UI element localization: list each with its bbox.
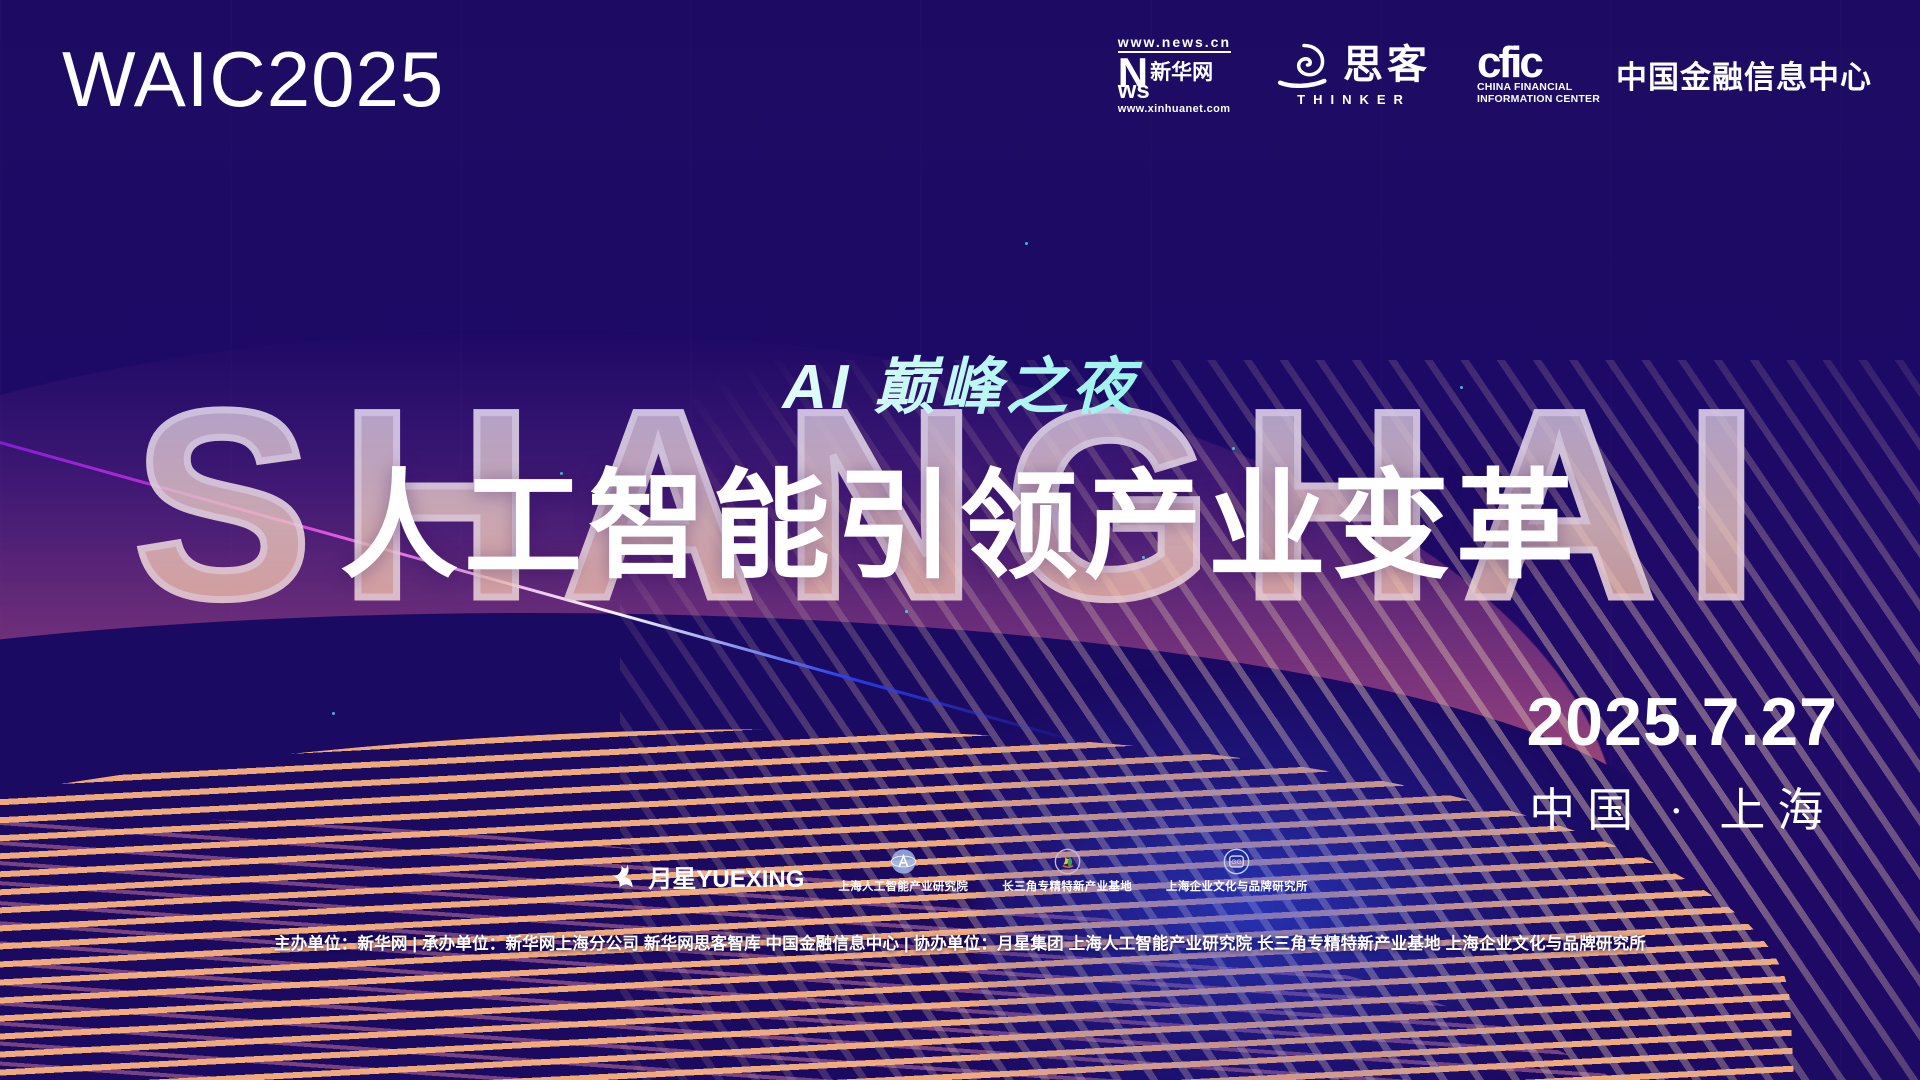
logo-yangtze-delta-base: 长三角专精特新产业基地 (1002, 848, 1132, 894)
credits-line: 主办单位：新华网 | 承办单位：新华网上海分公司 新华网思客智库 中国金融信息中… (0, 930, 1920, 954)
logo-caption: 长三角专精特新产业基地 (1002, 878, 1132, 894)
event-date: 2025.7.27 (1526, 688, 1838, 756)
waic-logo-text: WAIC (62, 35, 267, 123)
logo-yuexing: 月星YUEXING (612, 859, 804, 894)
cfic-wordmark: cfic (1477, 43, 1600, 83)
logo-caption: 上海人工智能产业研究院 (838, 878, 968, 894)
partner-logo-group: www.news.cn N 新华网 ws www.xinhuanet.com 思… (1118, 34, 1872, 115)
poster-canvas: SHANGHAI WAIC2025 www.news.cn N 新华网 ws w… (0, 0, 1920, 1080)
event-headline: 人工智能引领产业变革 (0, 430, 1920, 601)
xinhuanet-logo-icon: www.news.cn N 新华网 ws www.xinhuanet.com (1118, 34, 1231, 115)
cfic-zh: 中国金融信息中心 (1616, 52, 1872, 97)
globe-a-icon (890, 848, 917, 875)
header: WAIC2025 www.news.cn N 新华网 ws www.xinhua… (0, 0, 1920, 150)
cfic-sub-line2: INFORMATION CENTER (1477, 94, 1600, 106)
thinker-logo: 思客 THINKER (1277, 42, 1431, 107)
waic-logo-year: 2025 (267, 35, 445, 123)
logo-shanghai-ai-institute: 上海人工智能产业研究院 (838, 848, 968, 894)
thinker-swirl-icon (1277, 42, 1331, 88)
thinker-zh: 思客 (1343, 45, 1431, 85)
xinhuanet-zh: 新华网 (1150, 62, 1213, 83)
waic-logo: WAIC2025 (62, 34, 444, 125)
yuexing-zh: 月星 (648, 866, 696, 893)
event-subtitle: AI 巅峰之夜 (0, 336, 1920, 426)
event-date-block: 2025.7.27 中国 · 上海 (1526, 688, 1838, 840)
yuexing-star-icon (612, 862, 642, 892)
rounded-square-emblem-icon: GG (1223, 848, 1250, 875)
thinker-en: THINKER (1297, 92, 1411, 107)
logo-shanghai-culture-brand: GG 上海企业文化与品牌研究所 (1166, 848, 1308, 894)
xinhuanet-url-bottom: www.xinhuanet.com (1118, 103, 1231, 115)
bottom-logo-strip: 月星YUEXING 上海人工智能产业研究院 长三角专精特新产业基地 (0, 848, 1920, 894)
logo-caption: 上海企业文化与品牌研究所 (1166, 878, 1308, 894)
cfic-logo-icon: cfic CHINA FINANCIAL INFORMATION CENTER … (1477, 43, 1872, 106)
svg-text:GG: GG (1232, 859, 1243, 866)
xinhuanet-letters-ws: ws (1118, 80, 1150, 102)
yuexing-en: YUEXING (696, 866, 804, 893)
event-location: 中国 · 上海 (1526, 774, 1838, 840)
circular-emblem-icon (1054, 848, 1081, 875)
